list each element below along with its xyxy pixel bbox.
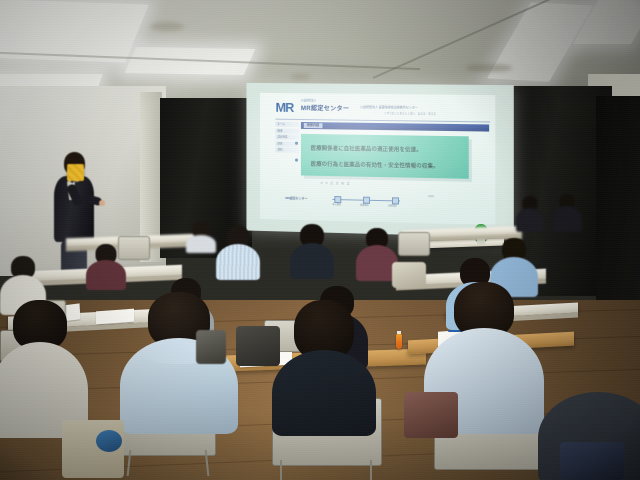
slide-sidebar: ホーム 概要 認定制度 研修 資料	[276, 122, 299, 155]
ceiling-light-5	[573, 0, 640, 44]
presenter-hand-gesture	[99, 200, 105, 206]
bag-floor-center	[404, 392, 458, 438]
projection-screen: MR 公益財団法人 MR認定センター 公益財団法人 医薬情報担当者教育センター …	[246, 83, 513, 238]
ceiling-light-4	[487, 2, 593, 81]
attendee-striped-shirt	[216, 226, 260, 278]
ceiling-light-1	[0, 0, 149, 63]
slide-navbar: 研修内容	[301, 122, 489, 132]
ceiling-beam-1	[0, 52, 420, 70]
attendee-shoulders	[290, 243, 334, 279]
chair-backrest	[398, 232, 430, 256]
attendee-shoulders	[516, 208, 544, 232]
ceiling-light-2	[125, 47, 256, 75]
slide-org-subtitle: 公益財団法人 医薬情報担当者教育センター	[360, 105, 418, 110]
slide-nav-tag: 研修内容	[304, 123, 322, 128]
attendee-maroon-hoodie	[86, 244, 126, 288]
slide-org-tagline: くすりのことを正しく深く、伝える・支える	[384, 111, 436, 116]
presentation-slide: MR 公益財団法人 MR認定センター 公益財団法人 医薬情報担当者教育センター …	[260, 93, 495, 225]
slide-footer-left: MR認定センター	[285, 196, 307, 200]
diagram-label: 基礎教育	[360, 203, 369, 207]
slide-bullet-2	[295, 159, 297, 162]
folding-chair	[398, 232, 428, 254]
ceiling-stain-1	[150, 22, 184, 31]
slide-message-box: 医療関係者に自社医薬品の適正使用を伝達。 医療の行為と医薬品の有効性・安全性情報…	[301, 134, 469, 179]
attendee-front-left-grey	[0, 300, 96, 436]
slide-sidebar-item: 概要	[276, 128, 299, 133]
diagram-label: 実務研修	[388, 203, 397, 207]
slide-org-title: MR認定センター	[301, 103, 349, 113]
privacy-blur-mask	[67, 164, 84, 181]
slide-sidebar-item: 資料	[276, 147, 299, 152]
curtain-far-right	[596, 96, 640, 326]
slide-message-line-2: 医療の行為と医薬品の有効性・安全性情報の収集。	[311, 160, 461, 171]
attendee-dark-suit-right-2	[552, 194, 582, 232]
chair-leg	[370, 460, 372, 480]
bag-hanging	[196, 330, 226, 364]
slide-message-line-1: 医療関係者に自社医薬品の適正使用を伝達。	[311, 144, 461, 154]
slide-sidebar-item: 認定制度	[276, 134, 299, 139]
attendee-shoulders	[216, 244, 260, 280]
slide-diagram: 導入教育 基礎教育 実務研修	[332, 193, 400, 209]
seminar-room-photo: MR 公益財団法人 MR認定センター 公益財団法人 医薬情報担当者教育センター …	[0, 0, 640, 480]
attendee-shoulders	[272, 350, 376, 436]
attendee-white-shirt-rear	[186, 222, 216, 252]
slide-footer-right: 2015	[428, 195, 434, 198]
slide-caption: M R 認 定 制 度	[321, 181, 351, 186]
bag-blue-pouch	[96, 430, 122, 452]
ceiling-beam-2	[373, 0, 640, 79]
attendee-dark-suit-right	[516, 196, 544, 232]
ceiling-stain-3	[466, 64, 512, 72]
bag-floor-right	[560, 442, 624, 480]
attendee-shoulders	[552, 206, 582, 232]
slide-sidebar-item: ホーム	[276, 122, 299, 127]
attendee-dark-long-hair	[272, 300, 376, 434]
bag-on-chair	[392, 262, 426, 288]
bag-under-desk	[236, 326, 280, 366]
diagram-label: 導入教育	[332, 202, 341, 206]
ceiling-stain-2	[290, 74, 310, 80]
mr-logo: MR	[276, 101, 294, 114]
mr-logo-superscript: 公益財団法人	[301, 98, 316, 102]
attendee-shoulders	[186, 235, 216, 253]
orange-drink-bottle	[396, 334, 402, 349]
attendee-shoulders	[86, 260, 126, 290]
chair-leg	[280, 460, 282, 480]
slide-bullet-1	[295, 142, 297, 145]
attendee-navy-top	[290, 224, 334, 278]
bottle-cap	[397, 331, 401, 334]
